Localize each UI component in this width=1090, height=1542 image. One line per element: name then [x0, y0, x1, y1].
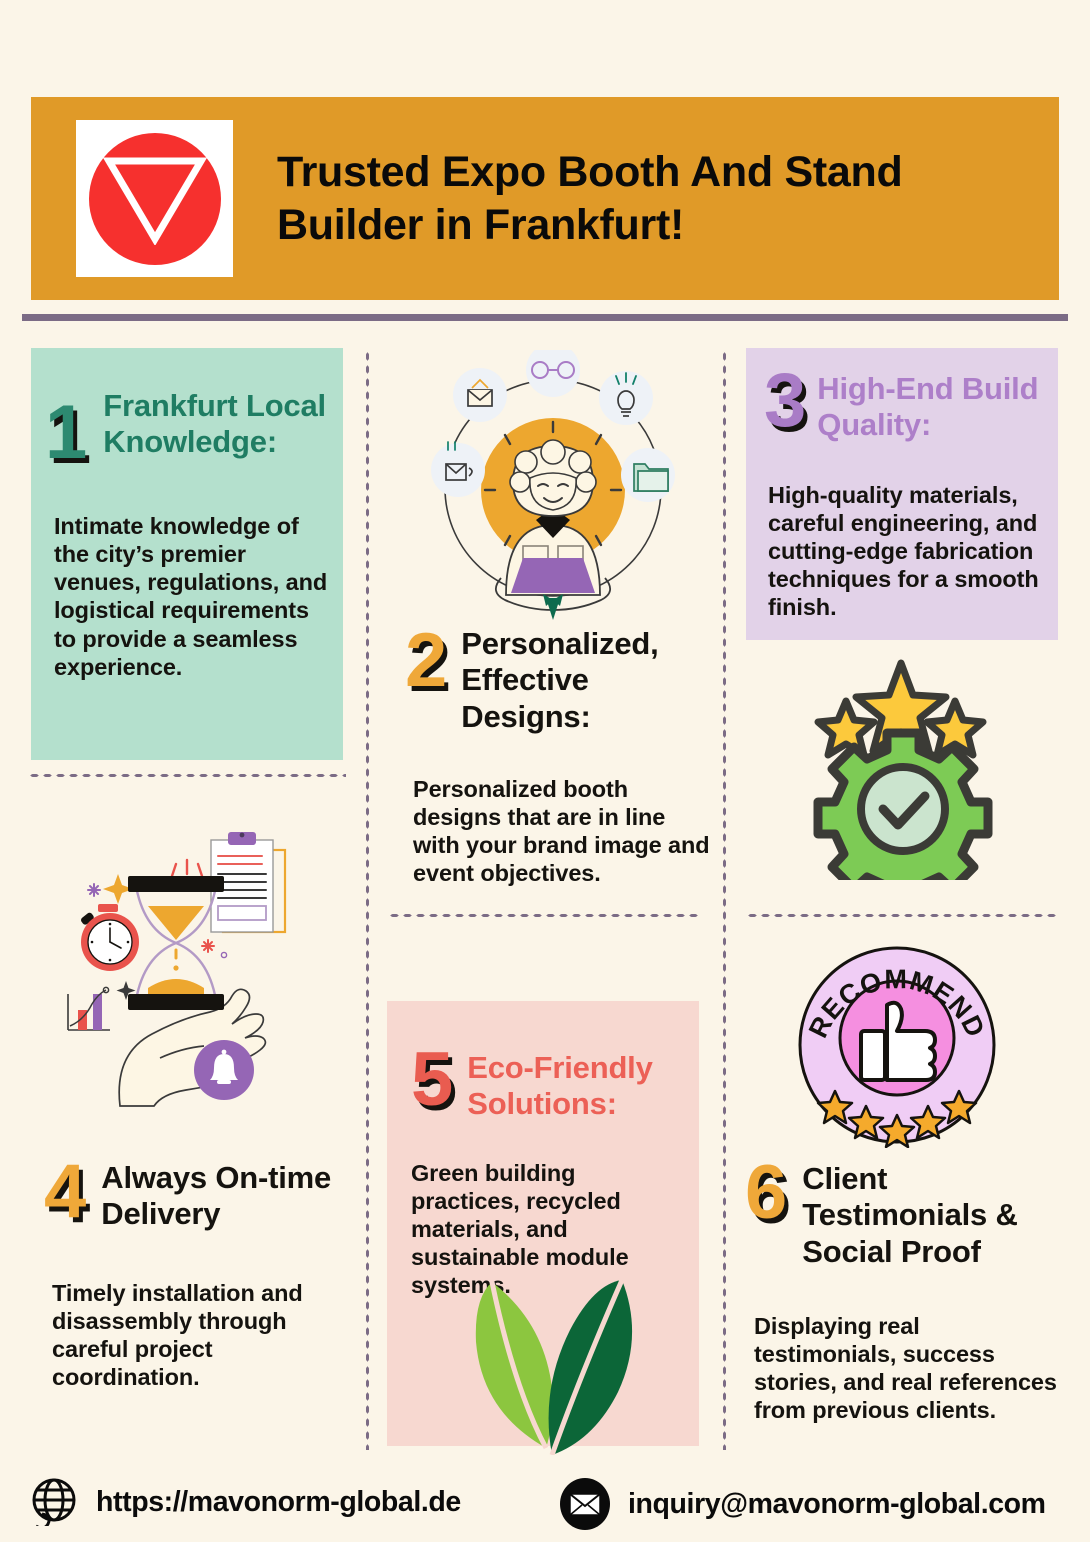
card1-body: Intimate knowledge of the city’s premier…: [54, 512, 333, 681]
card2-body: Personalized booth designs that are in l…: [413, 775, 715, 888]
logo-circle-icon: [89, 133, 221, 265]
card2-heading: 2 Personalized, Effective Designs:: [405, 626, 715, 735]
footer: https://mavonorm-global.de inquiry@mavon…: [0, 1478, 1090, 1542]
card1-title: Frankfurt Local Knowledge:: [103, 388, 333, 461]
envelope-icon: [560, 1478, 610, 1530]
vertical-divider-left: [365, 350, 370, 1450]
horizontal-divider-col2: [388, 913, 700, 918]
card1-number: 1: [45, 398, 87, 468]
globe-icon: [30, 1478, 78, 1526]
card-high-end-build-quality: 3 High-End Build Quality: High-quality m…: [746, 348, 1058, 640]
vertical-divider-right: [722, 350, 727, 1450]
card6-heading: 6 Client Testimonials & Social Proof: [745, 1158, 1065, 1270]
card-client-testimonials-social-proof: 6 Client Testimonials & Social Proof Dis…: [745, 1158, 1065, 1425]
card2-number: 2: [405, 626, 447, 696]
card3-number: 3: [764, 366, 806, 436]
website-link[interactable]: https://mavonorm-global.de: [30, 1478, 461, 1526]
card2-title: Personalized, Effective Designs:: [461, 626, 715, 735]
card4-number: 4: [44, 1157, 86, 1227]
card6-title: Client Testimonials & Social Proof: [802, 1161, 1065, 1270]
recommend-thumbs-up-badge: RECOMMEND: [795, 943, 1000, 1148]
infographic-page: Trusted Expo Booth And Stand Builder in …: [0, 0, 1090, 1542]
card6-number: 6: [745, 1158, 787, 1228]
card4-title: Always On-time Delivery: [101, 1160, 364, 1233]
person-laptop-clock-illustration: [408, 350, 698, 625]
email-link[interactable]: inquiry@mavonorm-global.com: [560, 1478, 1046, 1530]
card-personalized-effective-designs: 2 Personalized, Effective Designs: Perso…: [405, 626, 715, 888]
card-frankfurt-local-knowledge: 1 Frankfurt Local Knowledge: Intimate kn…: [31, 348, 343, 760]
bar-chart-icon: [68, 987, 110, 1030]
website-url: https://mavonorm-global.de: [96, 1486, 461, 1519]
bell-icon: [194, 1040, 254, 1100]
gear-checkmark-stars-illustration: [798, 655, 1013, 880]
card5-body: Green building practices, recycled mater…: [411, 1159, 687, 1300]
hand-hourglass-illustration: [48, 818, 343, 1108]
card5-title: Eco-Friendly Solutions:: [467, 1050, 687, 1123]
stopwatch-icon: [80, 904, 139, 971]
header-divider-rule: [22, 314, 1068, 321]
card3-title: High-End Build Quality:: [817, 371, 1046, 444]
page-title: Trusted Expo Booth And Stand Builder in …: [277, 146, 1059, 251]
card3-heading: 3 High-End Build Quality:: [764, 366, 1046, 444]
card4-heading: 4 Always On-time Delivery: [44, 1157, 364, 1233]
header-banner: Trusted Expo Booth And Stand Builder in …: [31, 97, 1059, 300]
triangle-down-icon: [103, 153, 207, 245]
horizontal-divider-col1: [28, 773, 346, 778]
email-address: inquiry@mavonorm-global.com: [628, 1488, 1046, 1521]
card6-body: Displaying real testimonials, success st…: [754, 1312, 1065, 1425]
card5-number: 5: [411, 1045, 453, 1115]
card5-heading: 5 Eco-Friendly Solutions:: [411, 1045, 687, 1123]
card-always-on-time-delivery: 4 Always On-time Delivery Timely install…: [44, 1157, 364, 1391]
two-leaves-illustration: [448, 1280, 663, 1455]
logo: [76, 120, 233, 277]
horizontal-divider-col3: [746, 913, 1060, 918]
card1-heading: 1 Frankfurt Local Knowledge:: [45, 382, 333, 468]
card3-body: High-quality materials, careful engineer…: [768, 481, 1046, 622]
gear-icon: [818, 733, 988, 880]
card4-body: Timely installation and disassembly thro…: [52, 1279, 364, 1392]
